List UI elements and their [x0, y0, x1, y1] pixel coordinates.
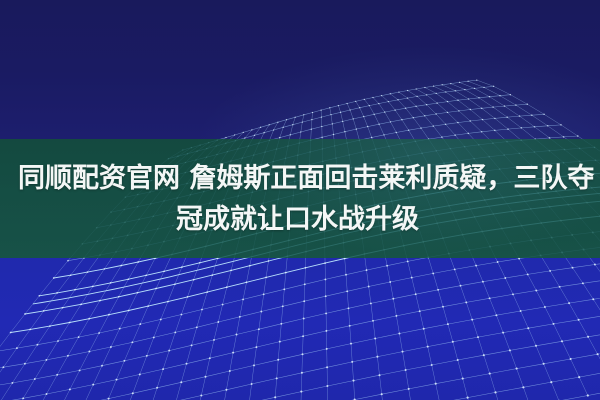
- background-band-top: [0, 0, 600, 139]
- background-band-green: [0, 139, 600, 258]
- background-band-bottom: [0, 258, 600, 400]
- banner-image: 同顺配资官网 詹姆斯正面回击莱利质疑，三队夺 冠成就让口水战升级: [0, 0, 600, 400]
